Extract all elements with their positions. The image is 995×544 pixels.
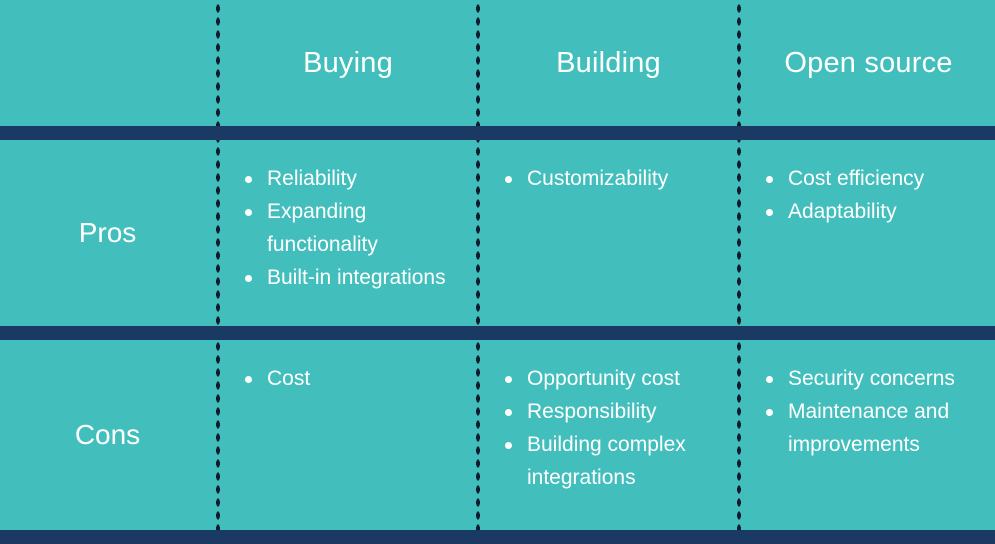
list-item: Expanding functionality — [239, 195, 465, 261]
bullet-list: Reliability Expanding functionality Buil… — [221, 140, 475, 294]
bullet-dot-icon — [766, 409, 773, 416]
list-item: Cost — [239, 362, 465, 395]
bullet-dot-icon — [505, 442, 512, 449]
list-item: Maintenance and improvements — [760, 395, 985, 461]
bullet-dot-icon — [766, 209, 773, 216]
list-item: Security concerns — [760, 362, 985, 395]
list-item: Building complex integrations — [499, 428, 726, 494]
list-item: Adaptability — [760, 195, 985, 228]
cell-cons-building: Opportunity cost Responsibility Building… — [481, 340, 736, 530]
bullet-dot-icon — [245, 275, 252, 282]
list-item: Cost efficiency — [760, 162, 985, 195]
bullet-dot-icon — [766, 376, 773, 383]
row-header-cons: Cons — [0, 340, 215, 530]
list-item: Built-in integrations — [239, 261, 465, 294]
cell-pros-buying: Reliability Expanding functionality Buil… — [221, 140, 475, 326]
bullet-list: Security concerns Maintenance and improv… — [742, 340, 995, 461]
bullet-list: Cost efficiency Adaptability — [742, 140, 995, 228]
list-item: Customizability — [499, 162, 726, 195]
bullet-dot-icon — [245, 376, 252, 383]
bullet-dot-icon — [505, 176, 512, 183]
list-item: Opportunity cost — [499, 362, 726, 395]
row-header-pros-label: Pros — [0, 140, 215, 326]
row-header-pros: Pros — [0, 140, 215, 326]
bullet-list: Cost — [221, 340, 475, 395]
row-header-cons-label: Cons — [0, 340, 215, 530]
bullet-list: Opportunity cost Responsibility Building… — [481, 340, 736, 494]
table-grid: Buying Building Open source Pros Reliabi… — [0, 0, 995, 544]
list-item: Reliability — [239, 162, 465, 195]
corner-label — [0, 0, 215, 126]
column-header-buying-label: Buying — [221, 0, 475, 126]
column-divider — [736, 0, 742, 544]
column-header-building-label: Building — [481, 0, 736, 126]
list-item: Responsibility — [499, 395, 726, 428]
column-header-open-source: Open source — [742, 0, 995, 126]
bullet-dot-icon — [245, 209, 252, 216]
bullet-dot-icon — [505, 409, 512, 416]
row-divider — [0, 530, 995, 544]
table-corner-cell — [0, 0, 215, 126]
row-divider — [0, 326, 995, 340]
bullet-dot-icon — [505, 376, 512, 383]
column-header-building: Building — [481, 0, 736, 126]
cell-pros-building: Customizability — [481, 140, 736, 326]
bullet-list: Customizability — [481, 140, 736, 195]
comparison-table: Buying Building Open source Pros Reliabi… — [0, 0, 995, 544]
bullet-dot-icon — [766, 176, 773, 183]
cell-cons-open-source: Security concerns Maintenance and improv… — [742, 340, 995, 530]
column-divider — [215, 0, 221, 544]
cell-cons-buying: Cost — [221, 340, 475, 530]
bullet-dot-icon — [245, 176, 252, 183]
column-header-open-source-label: Open source — [742, 0, 995, 126]
column-divider — [475, 0, 481, 544]
row-divider — [0, 126, 995, 140]
column-header-buying: Buying — [221, 0, 475, 126]
cell-pros-open-source: Cost efficiency Adaptability — [742, 140, 995, 326]
